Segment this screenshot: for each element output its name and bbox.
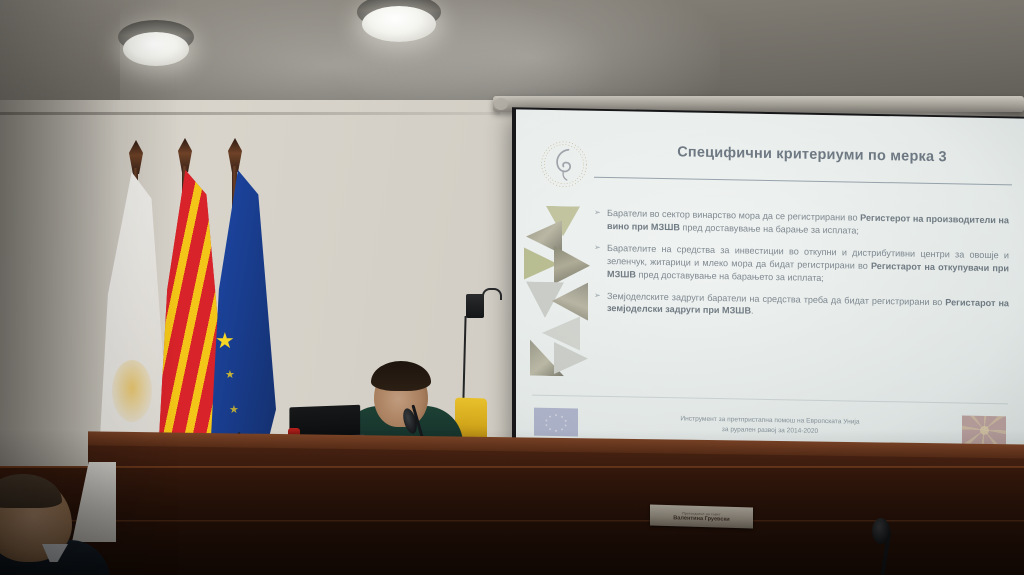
desk-nameplate: Претседател на совет Валентина Груевски [650, 505, 753, 529]
slide-footer-text: Инструмент за претпристапна помош на Евр… [578, 412, 962, 439]
bullet-marker-icon: ➢ [594, 207, 601, 218]
bullet-text: . [751, 306, 754, 316]
decorative-triangle-collage [524, 205, 600, 386]
lamp-dome [362, 6, 436, 42]
slide-footer-divider [532, 395, 1008, 405]
eu-flag-star-icon: ★ [215, 330, 235, 352]
bullet-text: пред доставување на барањето за исплата; [636, 269, 824, 282]
spiral-logo-icon [536, 136, 592, 193]
collage-triangle [554, 342, 588, 375]
slide-bullet-item: ➢Земјоделските задруги баратели на средс… [594, 289, 1009, 322]
projection-screen: Специфични критериуми по мерка 3 ➢Барате… [516, 109, 1024, 458]
macedonia-flag-mini-icon [962, 416, 1006, 445]
bullet-text: пред доставување на барање за исплата; [680, 222, 859, 235]
eu-flag-field [534, 408, 578, 437]
wall-adapter [466, 294, 484, 318]
slide-bullet-list: ➢Баратели во сектор винарство мора да се… [594, 207, 1009, 332]
ceiling-lamp-icon [357, 0, 441, 42]
mk-flag-sun [980, 425, 989, 434]
eu-flag-mini-icon [534, 408, 578, 437]
macedonia-flag-field [962, 416, 1006, 445]
conference-room-photo: ★ ★ ★ Специфични критериуми по мерка [0, 0, 1024, 575]
bullet-marker-icon: ➢ [594, 242, 601, 253]
nameplate-name: Валентина Груевски [673, 515, 729, 523]
eu-flag-star-icon: ★ [225, 370, 235, 381]
collage-triangle [542, 316, 580, 351]
lamp-dome [123, 32, 190, 66]
presentation-slide: Специфични критериуми по мерка 3 ➢Барате… [516, 109, 1024, 458]
bullet-marker-icon: ➢ [594, 289, 601, 300]
front-desk-groove [0, 520, 1024, 523]
cable-hook-icon [482, 288, 502, 300]
slide-title-divider [594, 177, 1012, 186]
bullet-text: Баратели во сектор винарство мора да се … [607, 208, 860, 223]
collage-triangle-photo [554, 246, 590, 285]
slide-bullet-item: ➢Барателите на средства за инвестиции во… [594, 242, 1009, 288]
collage-triangle [524, 247, 558, 280]
slide-bullet-item: ➢Баратели во сектор винарство мора да се… [594, 207, 1009, 240]
eu-flag-star-icon: ★ [229, 405, 239, 416]
foreground-microphone-head [872, 518, 890, 544]
municipal-flag-emblem [112, 360, 152, 422]
slide-title: Специфични критериуми по мерка 3 [612, 143, 1012, 166]
ceiling-lamp-icon [118, 20, 194, 66]
screen-roller-cap [494, 98, 508, 110]
